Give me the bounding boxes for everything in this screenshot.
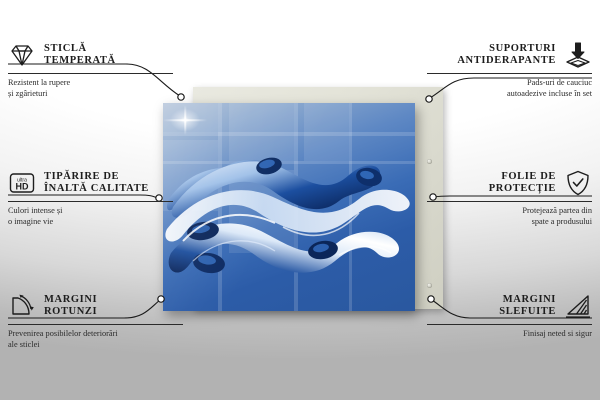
feature-subtitle-line: autoadezive incluse în set — [427, 89, 592, 100]
feature-title-line: SUPORTURI — [457, 43, 556, 56]
feature-margini-rotunzi: MARGINI ROTUNZI Prevenirea posibilelor d… — [8, 291, 183, 350]
feature-header: ultra HD TIPĂRIRE DE ÎNALTĂ CALITATE — [8, 168, 173, 198]
feature-title-line: MARGINI — [499, 294, 556, 307]
feature-subtitle-line: Pads-uri de cauciuc — [427, 78, 592, 89]
infographic-canvas: STICLĂ TEMPERATĂ Rezistent la rupere și … — [0, 0, 600, 400]
rounded-corner-icon — [8, 292, 36, 320]
feature-header: FOLIE DE PROTECȚIE — [427, 168, 592, 198]
feature-subtitle: Protejează partea din spate a produsului — [427, 206, 592, 227]
liquid-wave-artwork — [163, 103, 415, 311]
glass-sparkle — [168, 107, 202, 133]
shield-check-icon — [564, 169, 592, 197]
feature-title-line: STICLĂ — [44, 43, 116, 56]
feature-title: TIPĂRIRE DE ÎNALTĂ CALITATE — [44, 171, 149, 196]
polished-edge-icon — [564, 292, 592, 320]
feature-title-line: FOLIE DE — [489, 171, 556, 184]
feature-title-line: MARGINI — [44, 294, 97, 307]
feature-subtitle-line: Culori intense și — [8, 206, 173, 217]
feature-title: SUPORTURI ANTIDERAPANTE — [457, 43, 556, 68]
feature-subtitle: Finisaj neted si sigur — [427, 329, 592, 340]
feature-margini-slefuite: MARGINI SLEFUITE Finisaj neted si sigur — [427, 291, 592, 340]
feature-title-line: ANTIDERAPANTE — [457, 55, 556, 68]
feature-divider — [8, 201, 173, 202]
feature-title-line: ÎNALTĂ CALITATE — [44, 183, 149, 196]
feature-title-line: TIPĂRIRE DE — [44, 171, 149, 184]
glass-panel — [163, 103, 415, 311]
feature-header: SUPORTURI ANTIDERAPANTE — [427, 40, 592, 70]
feature-title: MARGINI SLEFUITE — [499, 294, 556, 319]
feature-subtitle-line: Prevenirea posibilelor deteriorări — [8, 329, 183, 340]
feature-subtitle-line: Protejează partea din — [427, 206, 592, 217]
feature-title-line: PROTECȚIE — [489, 183, 556, 196]
feature-subtitle-line: spate a produsului — [427, 217, 592, 228]
backing-screw — [427, 283, 432, 288]
feature-divider — [427, 201, 592, 202]
feature-title-line: SLEFUITE — [499, 306, 556, 319]
feature-subtitle: Rezistent la rupere și zgârieturi — [8, 78, 173, 99]
ultra-hd-icon-large-label: HD — [16, 181, 29, 191]
ultra-hd-icon: ultra HD — [8, 169, 36, 197]
feature-divider — [427, 73, 592, 74]
backing-screw — [427, 159, 432, 164]
feature-subtitle-line: Rezistent la rupere — [8, 78, 173, 89]
feature-header: MARGINI ROTUNZI — [8, 291, 183, 321]
diamond-icon — [8, 41, 36, 69]
feature-subtitle: Prevenirea posibilelor deteriorări ale s… — [8, 329, 183, 350]
feature-title: STICLĂ TEMPERATĂ — [44, 43, 116, 68]
feature-divider — [427, 324, 592, 325]
feature-subtitle-line: Finisaj neted si sigur — [427, 329, 592, 340]
feature-folie-de-protectie: FOLIE DE PROTECȚIE Protejează partea din… — [427, 168, 592, 227]
feature-title-line: TEMPERATĂ — [44, 55, 116, 68]
feature-subtitle: Pads-uri de cauciuc autoadezive incluse … — [427, 78, 592, 99]
feature-divider — [8, 73, 173, 74]
feature-tiparire-inalta-calitate: ultra HD TIPĂRIRE DE ÎNALTĂ CALITATE Cul… — [8, 168, 173, 227]
feature-title: FOLIE DE PROTECȚIE — [489, 171, 556, 196]
feature-subtitle: Culori intense și o imagine vie — [8, 206, 173, 227]
anti-slip-pad-icon — [564, 41, 592, 69]
feature-subtitle-line: ale sticlei — [8, 340, 183, 351]
feature-title-line: ROTUNZI — [44, 306, 97, 319]
feature-divider — [8, 324, 183, 325]
feature-suporturi-antiderapante: SUPORTURI ANTIDERAPANTE Pads-uri de cauc… — [427, 40, 592, 99]
feature-header: MARGINI SLEFUITE — [427, 291, 592, 321]
product-image — [155, 85, 445, 315]
feature-subtitle-line: și zgârieturi — [8, 89, 173, 100]
feature-header: STICLĂ TEMPERATĂ — [8, 40, 173, 70]
feature-title: MARGINI ROTUNZI — [44, 294, 97, 319]
feature-sticla-temperata: STICLĂ TEMPERATĂ Rezistent la rupere și … — [8, 40, 173, 99]
feature-subtitle-line: o imagine vie — [8, 217, 173, 228]
